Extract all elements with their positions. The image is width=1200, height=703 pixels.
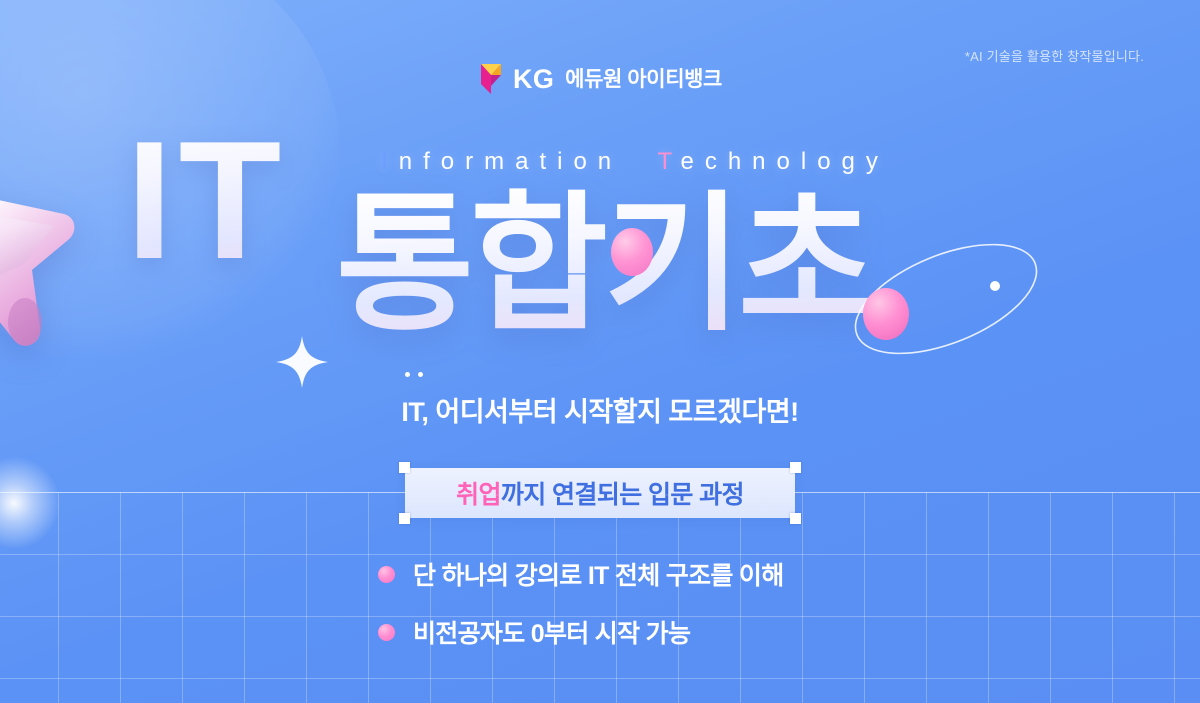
- pink-bullet-dot-icon: [378, 566, 395, 583]
- resize-handle-bottom-right[interactable]: [790, 513, 801, 524]
- list-item: 비전공자도 0부터 시작 가능: [378, 614, 784, 650]
- hero-subtitle: IT, 어디서부터 시작할지 모르겠다면!: [401, 390, 798, 429]
- kg-logo-mark-icon: [478, 62, 504, 96]
- orbit-dot-icon: [990, 281, 1000, 291]
- eyebrow-word-information-rest: nformation: [399, 148, 622, 175]
- emphasis-dots-icon: [403, 372, 433, 382]
- cursor-arrow-3d-icon: [0, 152, 126, 364]
- ai-disclaimer-note: *AI 기술을 활용한 창작물입니다.: [965, 46, 1144, 65]
- eyebrow-word-technology-rest: echnology: [680, 148, 888, 175]
- bullet-text: 비전공자도 0부터 시작 가능: [413, 614, 690, 650]
- brand-logo: KG 에듀원 아이티뱅크: [0, 62, 1200, 96]
- hero-subtitle-wrap: IT, 어디서부터 시작할지 모르겠다면!: [0, 390, 1200, 429]
- highlight-box[interactable]: 취업까지 연결되는 입문 과정: [405, 468, 795, 518]
- resize-handle-top-left[interactable]: [399, 462, 410, 473]
- brand-kg-text: KG: [513, 66, 554, 93]
- eyebrow-accent-i: I: [381, 148, 399, 175]
- list-item: 단 하나의 강의로 IT 전체 구조를 이해: [378, 556, 784, 592]
- resize-handle-top-right[interactable]: [790, 462, 801, 473]
- highlight-text: 취업까지 연결되는 입문 과정: [456, 475, 744, 511]
- feature-bullet-list: 단 하나의 강의로 IT 전체 구조를 이해 비전공자도 0부터 시작 가능: [378, 556, 784, 650]
- hero-title-en: IT: [126, 116, 287, 284]
- eyebrow-accent-t: T: [657, 148, 680, 175]
- brand-name-text: 에듀원 아이티뱅크: [565, 69, 722, 90]
- sparkle-star-icon: [276, 336, 328, 388]
- resize-handle-bottom-left[interactable]: [399, 513, 410, 524]
- promo-banner: KG 에듀원 아이티뱅크 *AI 기술을 활용한 창작물입니다. Informa…: [0, 0, 1200, 703]
- hero-title-kr: 통합기초: [336, 186, 872, 344]
- pink-bullet-dot-icon: [378, 624, 395, 641]
- bullet-text: 단 하나의 강의로 IT 전체 구조를 이해: [413, 556, 784, 592]
- highlight-text-rest: 까지 연결되는 입문 과정: [501, 481, 744, 509]
- edge-glow-spot: [0, 455, 62, 551]
- highlight-text-pink: 취업: [456, 481, 501, 509]
